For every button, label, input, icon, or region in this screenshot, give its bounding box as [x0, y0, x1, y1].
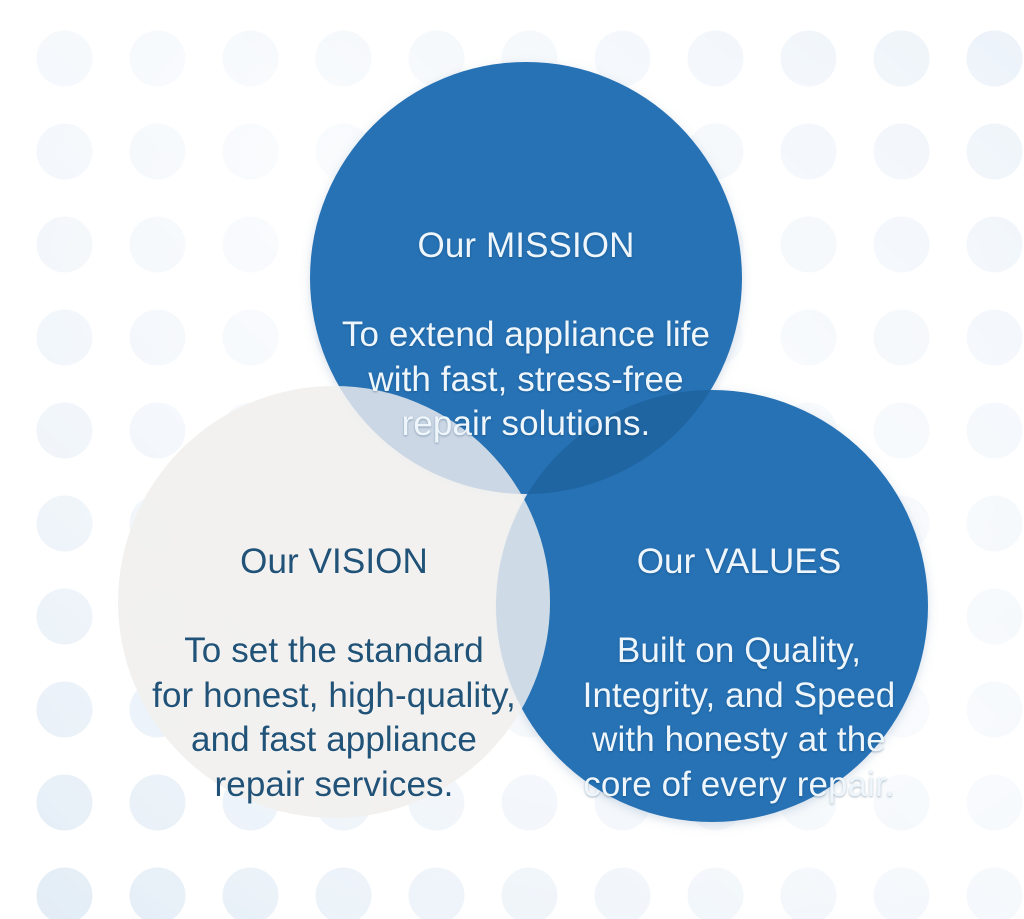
mission-circle-text: Our MISSION To extend appliance life wit…: [308, 180, 744, 491]
mission-label: Our MISSION: [308, 224, 744, 268]
venn-diagram-canvas: Our MISSION To extend appliance life wit…: [0, 0, 1024, 919]
vision-circle-text: Our VISION To set the standard for hones…: [112, 496, 556, 852]
values-body: Built on Quality, Integrity, and Speed w…: [560, 629, 918, 807]
mission-body: To extend appliance life with fast, stre…: [308, 313, 744, 446]
vision-body: To set the standard for honest, high-qua…: [112, 629, 556, 807]
values-circle-text: Our VALUES Built on Quality, Integrity, …: [560, 496, 918, 852]
values-label: Our VALUES: [560, 540, 918, 584]
vision-label: Our VISION: [112, 540, 556, 584]
